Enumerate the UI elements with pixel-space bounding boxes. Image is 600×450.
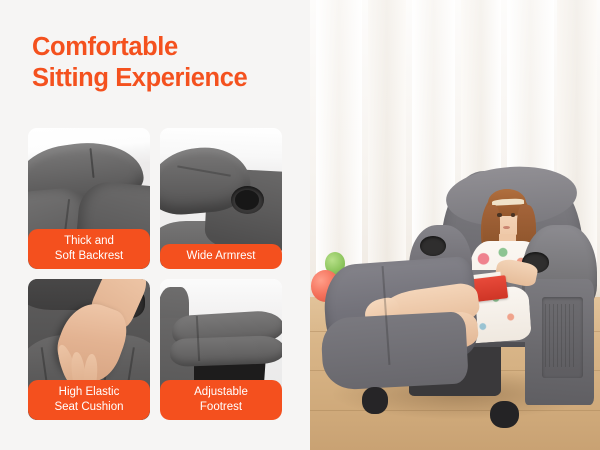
recliner-leg-rear (490, 401, 519, 429)
recliner-pocket-texture (545, 304, 577, 367)
headline-line-2: Sitting Experience (32, 63, 304, 94)
left-content-panel: Comfortable Sitting Experience Thick and… (0, 0, 310, 450)
feature-label-wide-armrest: Wide Armrest (160, 244, 282, 269)
feature-card-adjustable-footrest[interactable]: Adjustable Footrest (160, 279, 282, 420)
feature-label-line-2: Seat Cushion (30, 400, 148, 414)
page-title: Comfortable Sitting Experience (32, 32, 304, 94)
feature-card-high-elastic-seat-cushion[interactable]: High Elastic Seat Cushion (28, 279, 150, 420)
feature-label-adjustable-footrest: Adjustable Footrest (160, 380, 282, 420)
feature-card-grid: Thick and Soft Backrest Wide Armrest (28, 128, 282, 420)
feature-label-thick-soft-backrest: Thick and Soft Backrest (28, 229, 150, 269)
feature-label-line-1: High Elastic (30, 385, 148, 399)
recliner-footrest-lower (320, 311, 469, 390)
feature-label-high-elastic-seat-cushion: High Elastic Seat Cushion (28, 380, 150, 420)
feature-card-wide-armrest[interactable]: Wide Armrest (160, 128, 282, 269)
lifestyle-photo (310, 0, 600, 450)
child-eye-left (497, 213, 501, 217)
headline-line-1: Comfortable (32, 32, 304, 63)
feature-label-line-1: Adjustable (162, 385, 280, 399)
feature-label-line-1: Thick and (30, 234, 148, 248)
recliner-leg-front (362, 387, 388, 414)
child-mouth (503, 226, 511, 229)
feature-label-line-1: Wide Armrest (162, 249, 280, 263)
feature-card-thick-soft-backrest[interactable]: Thick and Soft Backrest (28, 128, 150, 269)
child-eye-right (511, 213, 515, 217)
product-feature-poster: Comfortable Sitting Experience Thick and… (0, 0, 600, 450)
feature-label-line-2: Soft Backrest (30, 249, 148, 263)
feature-label-line-2: Footrest (162, 400, 280, 414)
